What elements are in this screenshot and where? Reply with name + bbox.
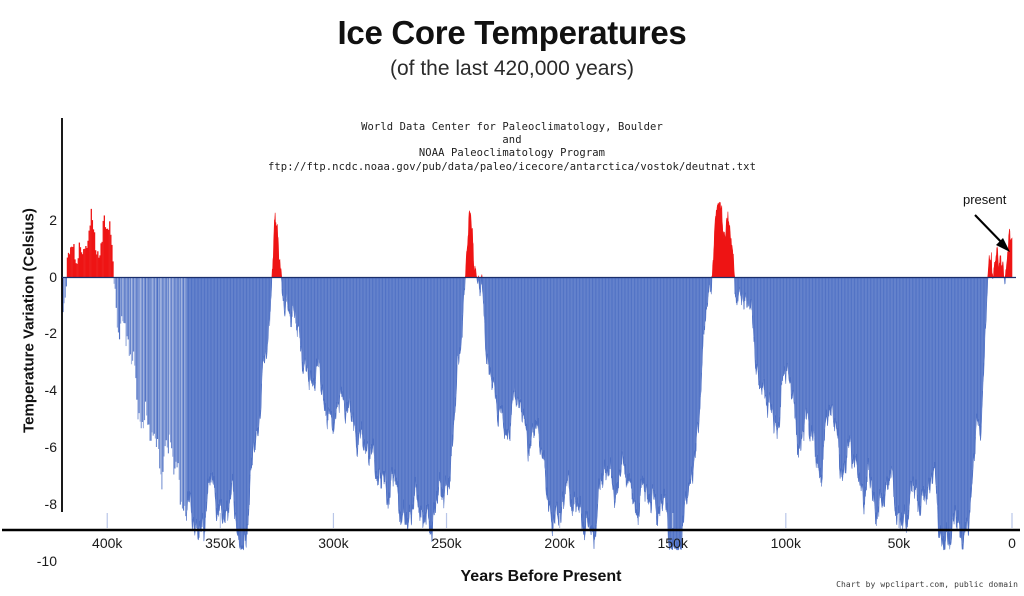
x-tick-50k: 50k [854, 535, 944, 551]
x-tick-200k: 200k [515, 535, 605, 551]
source-credit-line-4: ftp://ftp.ncdc.noaa.gov/pub/data/paleo/i… [0, 161, 1024, 174]
positive-area-fill [187, 202, 1013, 277]
x-tick-300k: 300k [288, 535, 378, 551]
y-tick-neg2: -2 [5, 325, 57, 341]
y-tick-neg10: -10 [5, 553, 57, 569]
x-tick-150k: 150k [628, 535, 718, 551]
x-tick-100k: 100k [741, 535, 831, 551]
footer-credit: Chart by wpclipart.com, public domain [836, 580, 1018, 589]
chart-canvas: Ice Core Temperatures (of the last 420,0… [0, 0, 1024, 596]
present-annotation-arrow [975, 215, 1010, 252]
y-tick-neg4: -4 [5, 382, 57, 398]
present-annotation-label: present [963, 192, 1006, 207]
x-tick-0: 0 [967, 535, 1024, 551]
source-credit: World Data Center for Paleoclimatology, … [0, 121, 1024, 174]
chart-plot-area [0, 0, 1024, 596]
source-credit-line-2: and [0, 134, 1024, 147]
chart-subtitle: (of the last 420,000 years) [0, 57, 1024, 81]
source-credit-line-1: World Data Center for Paleoclimatology, … [0, 121, 1024, 134]
chart-title: Ice Core Temperatures [0, 14, 1024, 52]
x-tick-350k: 350k [175, 535, 265, 551]
y-tick-neg6: -6 [5, 439, 57, 455]
y-tick-2: 2 [5, 212, 57, 228]
y-tick-neg8: -8 [5, 496, 57, 512]
y-axis-tick-labels: 20-2-4-6-8-10 [0, 0, 57, 596]
x-tick-250k: 250k [402, 535, 492, 551]
sparse-sample-bars [62, 209, 186, 516]
source-credit-line-3: NOAA Paleoclimatology Program [0, 147, 1024, 160]
x-tick-400k: 400k [62, 535, 152, 551]
y-tick-0: 0 [5, 269, 57, 285]
